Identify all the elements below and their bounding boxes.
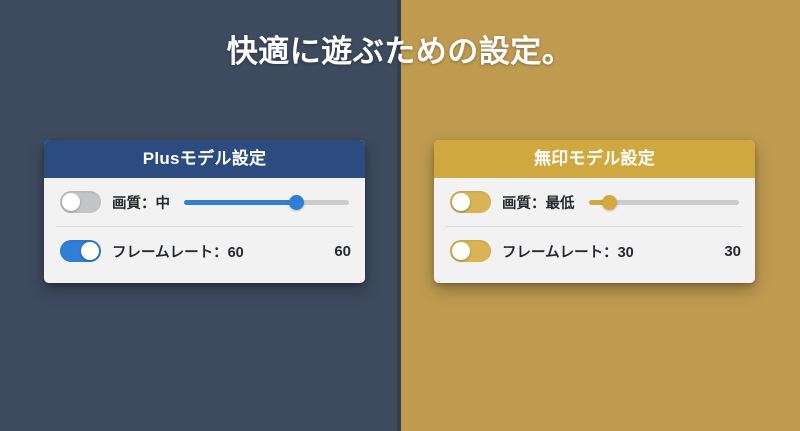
settings-card-plus-model: Plusモデル設定 画質：中 フレームレート：60 60 [44, 140, 365, 283]
toggle-knob-icon [452, 242, 470, 260]
row-quality-plus: 画質：中 [44, 178, 365, 226]
slider-thumb[interactable] [289, 195, 304, 210]
screenshot-stage: 快適に遊ぶための設定。 Plusモデル設定 画質：中 フ [0, 0, 800, 431]
toggle-knob-icon [452, 193, 470, 211]
toggle-framerate-standard[interactable] [450, 240, 491, 262]
slider-fill [184, 200, 296, 205]
row-framerate-standard: フレームレート：30 30 [434, 227, 755, 275]
toggle-quality-standard[interactable] [450, 191, 491, 213]
label-framerate-standard: フレームレート：30 [502, 241, 634, 262]
card-title-plus-model: Plusモデル設定 [44, 140, 365, 178]
label-quality-plus: 画質：中 [112, 192, 170, 213]
label-framerate-plus: フレームレート：60 [112, 241, 244, 262]
slider-thumb[interactable] [602, 195, 617, 210]
toggle-knob-icon [62, 193, 80, 211]
card-body-standard-model: 画質：最低 フレームレート：30 30 [434, 178, 755, 283]
card-title-standard-model: 無印モデル設定 [434, 140, 755, 178]
page-title: 快適に遊ぶための設定。 [0, 26, 800, 71]
label-quality-standard: 画質：最低 [502, 192, 575, 213]
card-body-plus-model: 画質：中 フレームレート：60 60 [44, 178, 365, 283]
toggle-quality-plus[interactable] [60, 191, 101, 213]
row-quality-standard: 画質：最低 [434, 178, 755, 226]
slider-quality-plus[interactable] [184, 193, 349, 211]
slider-quality-standard[interactable] [589, 193, 740, 211]
toggle-knob-icon [81, 242, 99, 260]
toggle-framerate-plus[interactable] [60, 240, 101, 262]
row-framerate-plus: フレームレート：60 60 [44, 227, 365, 275]
settings-card-standard-model: 無印モデル設定 画質：最低 フレームレート：30 30 [434, 140, 755, 283]
value-framerate-plus: 60 [321, 243, 351, 260]
value-framerate-standard: 30 [711, 243, 741, 260]
